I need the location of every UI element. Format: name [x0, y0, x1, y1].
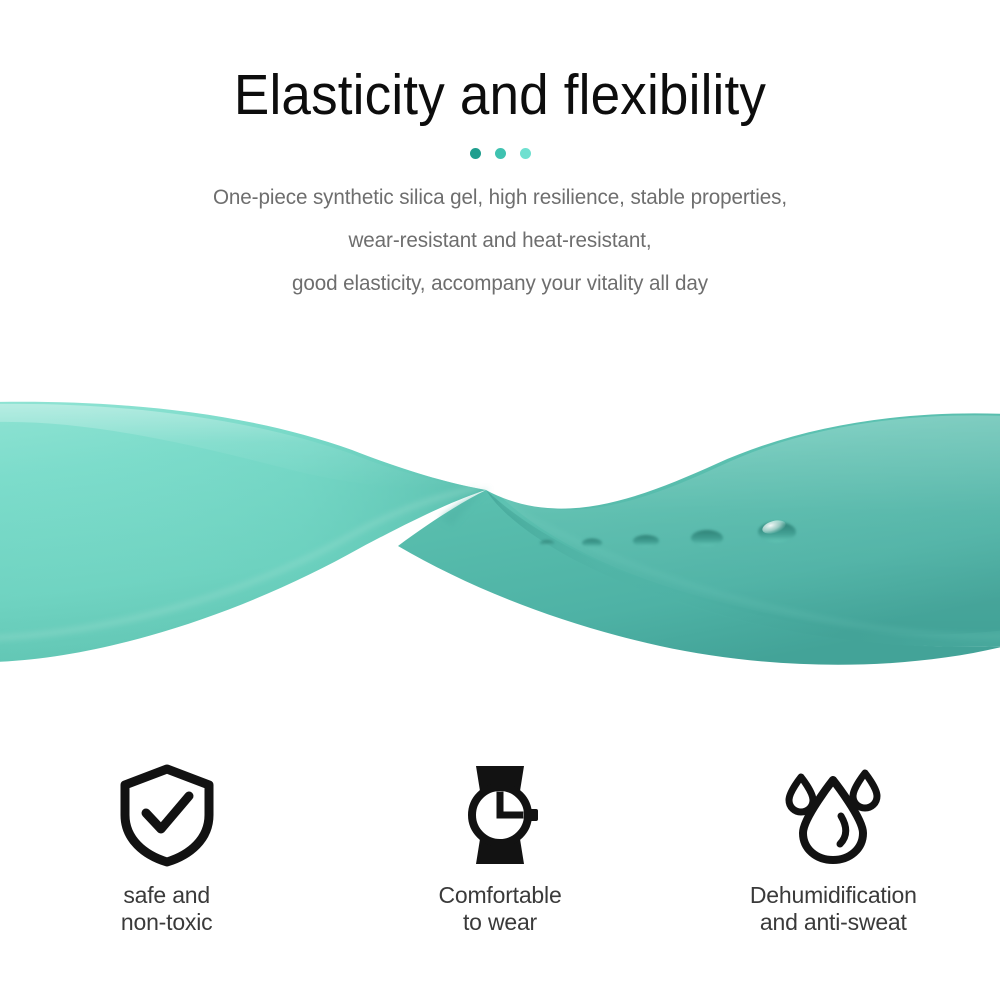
adjustment-hole-3 — [633, 535, 659, 547]
feature-comfortable-to-wear: Comfortable to wear — [333, 762, 666, 936]
feature-label-safe-non-toxic: safe and non-toxic — [121, 882, 213, 936]
twisted-silicone-band-illustration — [0, 380, 1000, 690]
feature-icon-wrapper — [779, 762, 887, 868]
feature-row: safe and non-toxic Comfortable to we — [0, 762, 1000, 936]
feature-safe-non-toxic: safe and non-toxic — [0, 762, 333, 936]
adjustment-hole-2 — [582, 539, 602, 548]
dot-dark-icon — [470, 148, 481, 159]
subtitle-block: One-piece synthetic silica gel, high res… — [0, 176, 1000, 305]
feature-label-comfortable-to-wear: Comfortable to wear — [438, 882, 561, 936]
product-hero-image — [0, 380, 1000, 690]
decorative-dots — [0, 146, 1000, 160]
header-section: Elasticity and flexibility One-piece syn… — [0, 0, 1000, 305]
shield-check-icon — [117, 763, 217, 867]
wristwatch-icon — [450, 763, 550, 867]
adjustment-hole-1 — [540, 540, 554, 546]
subtitle-line-2: wear-resistant and heat-resistant, — [20, 219, 980, 262]
feature-icon-wrapper — [450, 762, 550, 868]
feature-label-dehumidification: Dehumidification and anti-sweat — [750, 882, 917, 936]
feature-dehumidification: Dehumidification and anti-sweat — [667, 762, 1000, 936]
product-infographic-page: Elasticity and flexibility One-piece syn… — [0, 0, 1000, 1000]
feature-icon-wrapper — [117, 762, 217, 868]
page-title: Elasticity and flexibility — [35, 62, 965, 128]
subtitle-line-3: good elasticity, accompany your vitality… — [20, 262, 980, 305]
adjustment-hole-4 — [691, 530, 723, 546]
dot-mid-icon — [495, 148, 506, 159]
subtitle-line-1: One-piece synthetic silica gel, high res… — [20, 176, 980, 219]
dot-light-icon — [520, 148, 531, 159]
water-droplets-icon — [779, 763, 887, 867]
